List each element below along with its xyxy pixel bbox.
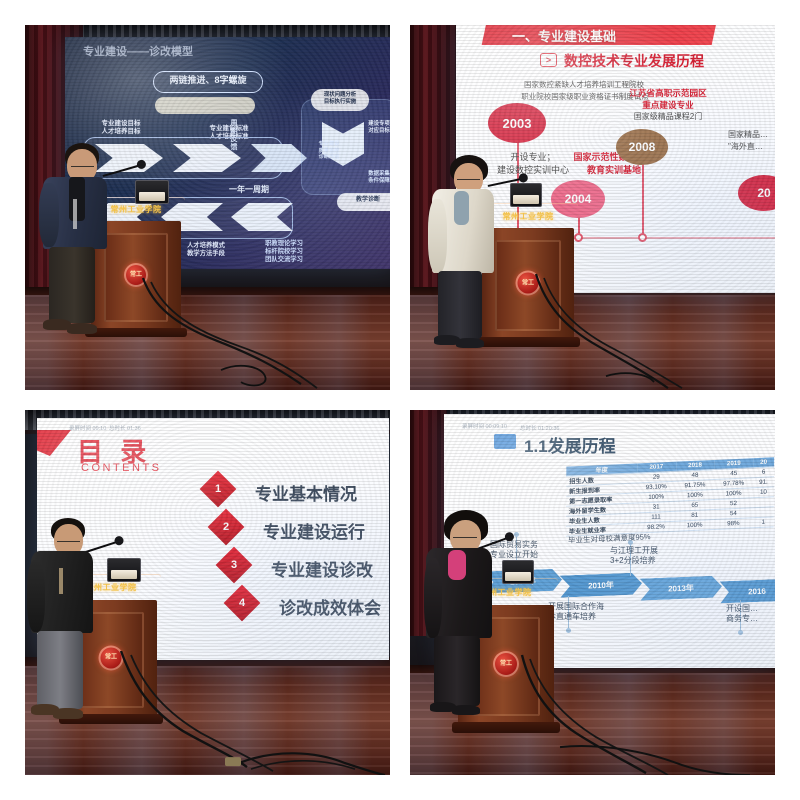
cell-5-0: 98.2% (637, 521, 676, 533)
lanyard (59, 568, 63, 594)
laptop-screen (107, 558, 141, 582)
label-teaching-diagnosis: 教学诊断 (337, 197, 390, 205)
toc-title-en: CONTENTS (81, 462, 162, 474)
toc-label-1: 专业基本情况 (255, 480, 357, 505)
timeline-arrow-4: 2016 (720, 579, 775, 604)
lanyard (73, 199, 77, 229)
slide-header-title: 1.1发展历程 (524, 432, 616, 457)
glasses-icon (57, 537, 80, 542)
timeline-note-below-2: 开设国…商务专… (726, 604, 758, 625)
cell-5-2: 98% (714, 518, 753, 530)
slide-headline: 两链推进、8字螺旋 (153, 75, 263, 86)
label-learning: 职教理论学习标杆院校学习团队交流学习 (253, 240, 315, 264)
milestone-year-partial: 20 (738, 175, 775, 211)
floor-cables (410, 266, 775, 390)
toc-marker-1: 1 (200, 471, 237, 508)
laptop-screen (135, 180, 169, 204)
decor-red-flag (37, 430, 71, 456)
chevron-right-icon: > (540, 53, 557, 67)
toc-label-4: 诊改成效体会 (279, 594, 381, 619)
laptop-screen (510, 183, 542, 207)
toc-number-3: 3 (231, 559, 237, 571)
slide-title: 专业建设——诊改模型 (83, 43, 193, 59)
toc-number-4: 4 (239, 597, 245, 609)
timeline-arrow-3: 2013年 (640, 575, 723, 600)
photo-panel-bottom-left: 录屏时间 09:10 总时长 01:36 目 录 CONTENTS 1 专业基本… (25, 410, 390, 775)
glasses-icon (457, 175, 480, 180)
label-cycle-feedback: 周期反馈 (211, 119, 237, 151)
speaker-nameplate (505, 572, 530, 581)
speaker-arm-left (27, 560, 45, 632)
label-status-analysis: 现状问题分析目标执行实施 (311, 92, 369, 106)
toc-marker-3: 3 (216, 547, 253, 584)
speaker-arm-left (39, 183, 59, 247)
cell-5-3: 1 (753, 517, 774, 528)
photo-collage: 专业建设——诊改模型 两链推进、8字螺旋 专业建设目标人才培养目标 专业建设标准… (0, 0, 800, 800)
milestone-note-2008a: 江苏省高职示范园区重点建设专业 (606, 87, 730, 112)
corner-left-timestamp: 录屏时间 09:10 (69, 424, 106, 432)
milestone-year-2008: 2008 (616, 129, 668, 165)
milestone-note-partial: 国家精品…"海外直… (728, 129, 775, 152)
label-goal-top: 专业建设目标人才培养目标 (85, 120, 157, 136)
photo-panel-top-right: 一、专业建设基础 > 数控技术专业发展历程 国家数控紧缺人才培养培训工程院校 职… (410, 25, 775, 390)
speaker-inner-shirt (69, 177, 85, 221)
glasses-icon (453, 533, 477, 538)
floor-cables (410, 651, 775, 775)
milestone-note-2008b: 国家级精品课程2门 (608, 111, 728, 123)
corner-right-timestamp: 总时长 01:20:36 (520, 424, 559, 432)
milestone-stem-2008 (642, 153, 644, 237)
corner-left-timestamp: 录屏时间 00:09:10 (462, 422, 507, 430)
speaker-nameplate (139, 192, 166, 201)
highlight-strip (155, 97, 255, 114)
toc-label-3: 专业建设诊改 (271, 556, 373, 581)
toc-number-1: 1 (215, 483, 221, 495)
label-data-collect: 数据采集条件保障 (357, 171, 390, 185)
stats-table: 年度 2017 2018 2019 20 招生人数 29 48 45 (566, 457, 774, 537)
glasses-icon (71, 162, 94, 167)
photo-panel-top-left: 专业建设——诊改模型 两链推进、8字螺旋 专业建设目标人才培养目标 专业建设标准… (25, 25, 390, 390)
floor-cables (25, 266, 390, 390)
toc-marker-4: 4 (224, 585, 261, 622)
speaker-collar (454, 191, 469, 225)
label-one-year-cycle: 一年一周期 (207, 185, 291, 195)
timeline-dot-3 (566, 628, 571, 633)
toc-marker-2: 2 (208, 509, 245, 546)
milestone-dot-2008 (638, 233, 647, 242)
timeline-arrow-2: 2010年 (560, 572, 643, 597)
photo-panel-bottom-right: 录屏时间 00:09:10 总时长 01:20:36 1.1发展历程 年度 20… (410, 410, 775, 775)
toc-label-2: 专业建设运行 (263, 518, 365, 543)
section-title: 数控技术专业发展历程 (564, 51, 704, 71)
floor-cables (25, 651, 390, 775)
speaker-nameplate (513, 195, 538, 204)
milestone-year-2003: 2003 (488, 103, 546, 143)
timeline-dot-2 (628, 540, 633, 545)
toc-number-2: 2 (223, 521, 229, 533)
speaker-pink-collar (448, 550, 466, 580)
speaker-arm-left (424, 558, 442, 638)
banner-title: 一、专业建设基础 (512, 26, 616, 45)
label-quality-monitor: 专业建设质量监控诊断改进 (307, 141, 351, 161)
corner-right-timestamp: 总时长 01:36 (109, 424, 141, 432)
speaker-nameplate (111, 570, 138, 579)
speaker-arm-left (428, 199, 447, 273)
timeline-dot-1 (514, 532, 519, 537)
cell-5-1: 100% (675, 520, 714, 532)
timeline-dot-4 (738, 630, 743, 635)
timeline-note-above-2: 与江理工开展3+2分段培养 (610, 546, 658, 567)
header-block-icon (494, 434, 516, 449)
